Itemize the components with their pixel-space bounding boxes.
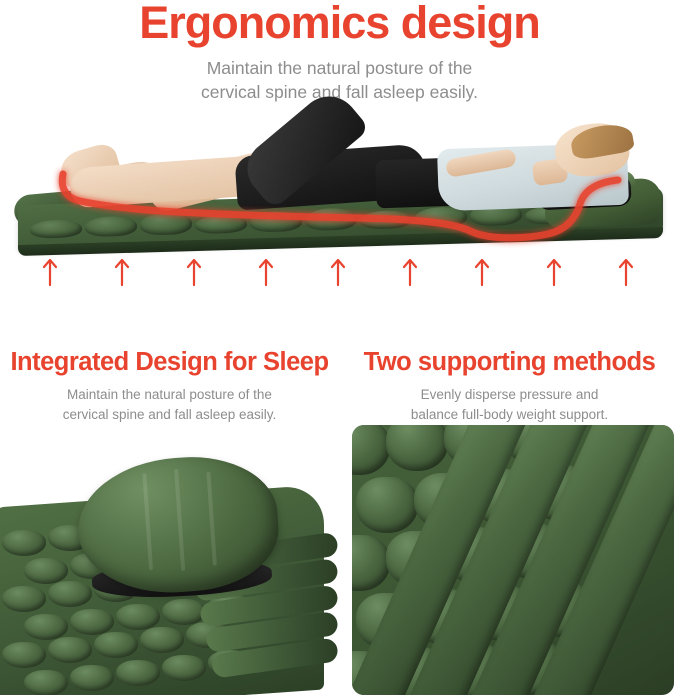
pad-cell (140, 627, 184, 653)
pad-cell (2, 530, 46, 556)
arrow-up-icon (186, 256, 202, 286)
texture-cell (352, 425, 390, 475)
texture-cell (352, 535, 390, 591)
sleeping-pad-baffle (250, 211, 302, 232)
support-arrow-row (0, 256, 679, 292)
infographic-page: Ergonomics design Maintain the natural p… (0, 0, 679, 695)
pad-cell (24, 614, 68, 640)
section-subtitle-left-line-2: cervical spine and fall asleep easily. (0, 405, 339, 425)
pad-cell (70, 665, 114, 691)
section-subtitle-left-line-1: Maintain the natural posture of the (0, 385, 339, 405)
pad-cell (70, 609, 114, 635)
pad-cell (162, 599, 206, 625)
product-photo-baffle-texture (352, 425, 674, 695)
pad-cell (116, 604, 160, 630)
section-two-supporting-methods: Two supporting methods Evenly disperse p… (340, 348, 679, 424)
page-subtitle-line-1: Maintain the natural posture of the (0, 56, 679, 80)
section-subtitle-right-line-1: Evenly disperse pressure and (340, 385, 679, 405)
sleeping-pad-baffle (85, 216, 137, 237)
pad-cell (94, 632, 138, 658)
page-subtitle: Maintain the natural posture of the cerv… (0, 56, 679, 104)
pad-cell (116, 660, 160, 686)
page-title: Ergonomics design (0, 0, 679, 48)
arrow-up-icon (42, 256, 58, 286)
section-subtitle-right: Evenly disperse pressure and balance ful… (340, 385, 679, 424)
product-photo-pillow-and-pad: Buerls (0, 434, 339, 695)
pad-cell (48, 581, 92, 607)
arrow-up-icon (402, 256, 418, 286)
arrow-up-icon (546, 256, 562, 286)
pad-cell (2, 586, 46, 612)
sleeping-pad-baffle (195, 215, 247, 234)
sleeping-pad-baffle (30, 219, 82, 238)
section-subtitle-left: Maintain the natural posture of the cerv… (0, 385, 339, 424)
hero-illustration-person-on-sleeping-pad (0, 100, 679, 250)
pillow-seam-3 (206, 472, 217, 566)
pad-cell (2, 642, 46, 668)
pad-cell (24, 670, 68, 695)
pad-cell (24, 558, 68, 584)
texture-cell (356, 477, 418, 533)
section-title-right: Two supporting methods (340, 348, 679, 376)
section-subtitle-right-line-2: balance full-body weight support. (340, 405, 679, 425)
section-title-left: Integrated Design for Sleep (0, 348, 339, 376)
arrow-up-icon (114, 256, 130, 286)
texture-cell (386, 425, 448, 471)
arrow-up-icon (618, 256, 634, 286)
sleeping-pad-baffle (140, 212, 192, 235)
arrow-up-icon (258, 256, 274, 286)
section-integrated-design: Integrated Design for Sleep Maintain the… (0, 348, 339, 424)
sleeping-pad-baffle (360, 210, 412, 229)
pillow-seam-2 (174, 469, 185, 571)
arrow-up-icon (474, 256, 490, 286)
sleeping-pad-baffle (305, 208, 357, 231)
pad-cell (162, 655, 206, 681)
arrow-up-icon (330, 256, 346, 286)
pillow-seam-1 (142, 473, 153, 570)
pad-cell (48, 637, 92, 663)
